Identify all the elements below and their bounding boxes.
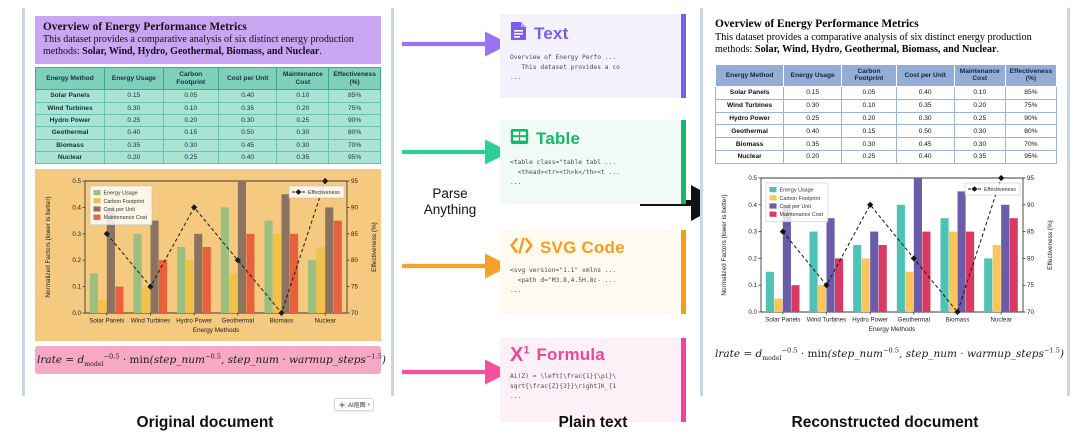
svg-text:Solar Panels: Solar Panels — [89, 318, 124, 325]
svg-text:90: 90 — [1027, 202, 1034, 209]
cell-value: 75% — [329, 102, 381, 114]
cell-value: 90% — [329, 114, 381, 126]
cell-value: 80% — [1005, 125, 1056, 138]
cell-value: 0.10 — [163, 102, 218, 114]
cell-value: 0.40 — [218, 152, 277, 164]
original-chart-panel: 0.00.10.20.30.40.5707580859095Solar Pane… — [35, 169, 381, 341]
card-preview-text: <svg version="1.1" xmlns ... <path d="M3… — [510, 266, 678, 295]
svg-text:Energy Methods: Energy Methods — [869, 326, 916, 333]
original-subtitle-bold: Solar, Wind, Hydro, Geothermal, Biomass,… — [82, 46, 319, 57]
cell-method: Wind Turbines — [36, 102, 105, 114]
cell-value: 0.25 — [784, 112, 842, 125]
cell-value: 0.30 — [842, 138, 897, 151]
cell-value: 0.20 — [784, 150, 842, 163]
svg-text:Cost per Unit: Cost per Unit — [104, 207, 136, 213]
caption-reconstructed-document: Reconstructed document — [760, 414, 1010, 432]
table-row: Biomass 0.35 0.30 0.45 0.30 70% — [716, 138, 1057, 151]
recon-doc-title: Overview of Energy Performance Metrics — [715, 18, 1057, 30]
svg-text:0.2: 0.2 — [72, 258, 81, 265]
table-row: Wind Turbines 0.30 0.10 0.35 0.20 75% — [716, 99, 1057, 112]
svg-text:Energy Usage: Energy Usage — [104, 191, 138, 197]
cell-value: 0.10 — [277, 90, 329, 102]
svg-text:70: 70 — [351, 310, 358, 317]
svg-text:0.0: 0.0 — [748, 309, 757, 316]
cell-method: Geothermal — [716, 125, 784, 138]
cell-value: 0.25 — [954, 112, 1005, 125]
svg-text:0.3: 0.3 — [748, 228, 757, 235]
card-header: SVG Code — [510, 237, 678, 259]
reconstructed-document-panel: Overview of Energy Performance Metrics T… — [700, 8, 1070, 396]
plain-text-card-text[interactable]: Text Overview of Energy Perfo ... This d… — [500, 14, 686, 98]
svg-text:Geothermal: Geothermal — [222, 318, 254, 325]
cell-method: Geothermal — [36, 127, 105, 139]
recon-subtitle-suffix: . — [997, 44, 1000, 55]
svg-text:Carbon Footprint: Carbon Footprint — [780, 196, 821, 202]
cell-value: 0.30 — [163, 139, 218, 151]
svg-text:Cost per Unit: Cost per Unit — [780, 204, 812, 210]
cell-value: 95% — [329, 152, 381, 164]
col-maintenance-cost: Maintenance Cost — [954, 64, 1005, 86]
cell-value: 0.50 — [896, 125, 954, 138]
svg-text:0.5: 0.5 — [72, 178, 81, 185]
svg-text:Carbon Footprint: Carbon Footprint — [104, 199, 145, 205]
plain-text-card-formula[interactable]: X1 Formula Ai(Z) = \left[\frac{1}{\pi}\ … — [500, 338, 686, 422]
cell-value: 0.35 — [896, 99, 954, 112]
code-icon — [510, 237, 533, 259]
svg-text:0.4: 0.4 — [748, 202, 757, 209]
svg-text:Maintenance Cost: Maintenance Cost — [104, 216, 148, 222]
card-title: Formula — [536, 345, 604, 365]
cell-value: 0.15 — [784, 87, 842, 100]
recon-subtitle-bold: Solar, Wind, Hydro, Geothermal, Biomass,… — [755, 44, 997, 55]
svg-text:Solar Panels: Solar Panels — [765, 316, 800, 323]
svg-text:85: 85 — [351, 231, 358, 238]
svg-text:75: 75 — [351, 284, 358, 291]
parse-anything-label: Parse Anything — [404, 186, 496, 217]
cell-value: 0.25 — [842, 150, 897, 163]
table-icon — [510, 127, 529, 151]
cell-value: 0.40 — [784, 125, 842, 138]
svg-text:Normalized Factors (lower is b: Normalized Factors (lower is better) — [45, 197, 52, 298]
cell-method: Nuclear — [716, 150, 784, 163]
svg-text:Hydro Power: Hydro Power — [176, 318, 212, 325]
cell-method: Biomass — [36, 139, 105, 151]
table-row: Hydro Power 0.25 0.20 0.30 0.25 90% — [36, 114, 381, 126]
table-row: Nuclear 0.20 0.25 0.40 0.35 95% — [716, 150, 1057, 163]
chevron-down-icon: ▾ — [368, 402, 371, 408]
col-effectiveness: Effectiveness (%) — [1005, 64, 1056, 86]
original-formula-block: lrate = dmodel−0.5 · min(step_num−0.5, s… — [35, 346, 381, 373]
table-row: Nuclear 0.20 0.25 0.40 0.35 95% — [36, 152, 381, 164]
svg-text:Energy Usage: Energy Usage — [780, 187, 814, 193]
cell-value: 0.35 — [954, 150, 1005, 163]
cell-value: 0.40 — [105, 127, 164, 139]
cell-value: 0.20 — [105, 152, 164, 164]
ai-cutout-widget[interactable]: AI抠图 ▾ — [334, 398, 374, 411]
card-accent-bar — [681, 120, 686, 204]
cell-value: 0.05 — [163, 90, 218, 102]
cell-value: 0.30 — [218, 114, 277, 126]
cell-value: 0.20 — [842, 112, 897, 125]
formula-latex: lrate = dmodel−0.5 · min(step_num−0.5, s… — [715, 348, 1064, 360]
reconstructed-combo-chart: 0.00.10.20.30.40.5707580859095Solar Pane… — [715, 170, 1059, 338]
cell-value: 0.30 — [784, 99, 842, 112]
cell-method: Solar Panels — [36, 90, 105, 102]
table-header-row: Energy Method Energy Usage Carbon Footpr… — [36, 68, 381, 90]
svg-text:Maintenance Cost: Maintenance Cost — [780, 212, 824, 218]
original-document-panel: Overview of Energy Performance Metrics T… — [22, 8, 394, 396]
card-preview-text: <table class="table tabl ... <thead><tr>… — [510, 158, 678, 187]
col-carbon-footprint: Carbon Footprint — [842, 64, 897, 86]
ai-widget-label: AI抠图 — [348, 400, 366, 409]
card-title: Table — [536, 129, 580, 149]
col-energy-method: Energy Method — [36, 68, 105, 90]
svg-text:Normalized Factors (lower is b: Normalized Factors (lower is better) — [721, 194, 728, 295]
cell-value: 70% — [1005, 138, 1056, 151]
cell-value: 0.40 — [896, 150, 954, 163]
svg-text:Wind Turbines: Wind Turbines — [807, 316, 847, 323]
svg-text:Hydro Power: Hydro Power — [852, 316, 888, 323]
reconstructed-chart-panel: 0.00.10.20.30.40.5707580859095Solar Pane… — [715, 170, 1057, 342]
card-header: Table — [510, 127, 678, 151]
table-row: Geothermal 0.40 0.15 0.50 0.30 80% — [36, 127, 381, 139]
col-maintenance-cost: Maintenance Cost — [277, 68, 329, 90]
cell-method: Nuclear — [36, 152, 105, 164]
svg-text:Wind Turbines: Wind Turbines — [131, 318, 171, 325]
cell-method: Biomass — [716, 138, 784, 151]
svg-text:0.4: 0.4 — [72, 205, 81, 212]
original-header-block: Overview of Energy Performance Metrics T… — [35, 16, 381, 64]
svg-text:70: 70 — [1027, 309, 1034, 316]
reconstructed-formula-block: lrate = dmodel−0.5 · min(step_num−0.5, s… — [715, 344, 1057, 362]
col-energy-usage: Energy Usage — [784, 64, 842, 86]
recon-doc-subtitle: This dataset provides a comparative anal… — [715, 32, 1057, 57]
card-header: Text — [510, 21, 678, 46]
svg-text:80: 80 — [351, 258, 358, 265]
page-root: Overview of Energy Performance Metrics T… — [0, 0, 1080, 438]
caption-original-document: Original document — [90, 414, 320, 432]
original-doc-title: Overview of Energy Performance Metrics — [43, 21, 373, 33]
table-header-row: Energy Method Energy Usage Carbon Footpr… — [716, 64, 1057, 86]
cell-value: 85% — [1005, 87, 1056, 100]
cell-value: 0.10 — [954, 87, 1005, 100]
svg-text:80: 80 — [1027, 255, 1034, 262]
cell-value: 0.25 — [163, 152, 218, 164]
cell-value: 0.30 — [277, 139, 329, 151]
svg-text:85: 85 — [1027, 228, 1034, 235]
table-row: Hydro Power 0.25 0.20 0.30 0.25 90% — [716, 112, 1057, 125]
svg-text:0.0: 0.0 — [72, 310, 81, 317]
cell-value: 0.45 — [896, 138, 954, 151]
svg-text:0.3: 0.3 — [72, 231, 81, 238]
cell-value: 0.25 — [105, 114, 164, 126]
card-header: X1 Formula — [510, 345, 678, 365]
cell-value: 0.15 — [163, 127, 218, 139]
formula-icon: X1 — [510, 345, 529, 365]
svg-text:Nuclear: Nuclear — [315, 318, 336, 325]
original-combo-chart: 0.00.10.20.30.40.5707580859095Solar Pane… — [39, 173, 383, 339]
cell-value: 0.50 — [218, 127, 277, 139]
svg-text:Effectiveness (%): Effectiveness (%) — [371, 223, 378, 273]
cell-value: 0.40 — [896, 87, 954, 100]
svg-text:Effectiveness: Effectiveness — [984, 187, 1016, 193]
cell-value: 0.30 — [954, 125, 1005, 138]
table-row: Wind Turbines 0.30 0.10 0.35 0.20 75% — [36, 102, 381, 114]
cell-method: Wind Turbines — [716, 99, 784, 112]
parse-label-line2: Anything — [404, 202, 496, 218]
card-preview-text: Overview of Energy Perfo ... This datase… — [510, 53, 678, 82]
cell-method: Hydro Power — [716, 112, 784, 125]
cell-value: 0.10 — [842, 99, 897, 112]
plain-text-card-table[interactable]: Table <table class="table tabl ... <thea… — [500, 120, 686, 204]
card-title: SVG Code — [540, 238, 625, 258]
cell-value: 0.25 — [277, 114, 329, 126]
formula-latex: lrate = dmodel−0.5 · min(step_num−0.5, s… — [37, 354, 386, 366]
cell-value: 0.30 — [896, 112, 954, 125]
table-row: Geothermal 0.40 0.15 0.50 0.30 80% — [716, 125, 1057, 138]
col-energy-method: Energy Method — [716, 64, 784, 86]
svg-text:Effectiveness: Effectiveness — [308, 191, 340, 197]
cell-value: 0.20 — [954, 99, 1005, 112]
cell-value: 0.45 — [218, 139, 277, 151]
svg-text:Nuclear: Nuclear — [991, 316, 1012, 323]
original-doc-subtitle: This dataset provides a comparative anal… — [43, 34, 373, 58]
caption-plain-text: Plain text — [500, 414, 686, 432]
cell-value: 70% — [329, 139, 381, 151]
document-icon — [510, 21, 527, 46]
col-cost-per-unit: Cost per Unit — [218, 68, 277, 90]
card-accent-bar — [681, 338, 686, 422]
cell-value: 0.20 — [277, 102, 329, 114]
plain-text-card-svg[interactable]: SVG Code <svg version="1.1" xmlns ... <p… — [500, 230, 686, 314]
svg-text:Geothermal: Geothermal — [898, 316, 930, 323]
card-preview-text: Ai(Z) = \left[\frac{1}{\pi}\ sqrt{\frac{… — [510, 372, 678, 401]
svg-text:0.5: 0.5 — [748, 175, 757, 182]
table-row: Solar Panels 0.15 0.05 0.40 0.10 85% — [36, 90, 381, 102]
svg-text:95: 95 — [351, 178, 358, 185]
cell-value: 95% — [1005, 150, 1056, 163]
svg-text:Biomass: Biomass — [946, 316, 970, 323]
svg-text:95: 95 — [1027, 175, 1034, 182]
card-accent-bar — [681, 230, 686, 314]
table-row: Solar Panels 0.15 0.05 0.40 0.10 85% — [716, 87, 1057, 100]
col-carbon-footprint: Carbon Footprint — [163, 68, 218, 90]
cell-value: 75% — [1005, 99, 1056, 112]
svg-text:Effectiveness (%): Effectiveness (%) — [1047, 220, 1054, 270]
svg-text:0.2: 0.2 — [748, 255, 757, 262]
cell-value: 80% — [329, 127, 381, 139]
original-subtitle-suffix: . — [319, 46, 322, 57]
cell-value: 0.15 — [105, 90, 164, 102]
cell-value: 0.35 — [218, 102, 277, 114]
cell-method: Solar Panels — [716, 87, 784, 100]
reconstructed-metrics-table: Energy Method Energy Usage Carbon Footpr… — [715, 64, 1057, 164]
cell-value: 0.15 — [842, 125, 897, 138]
table-row: Biomass 0.35 0.30 0.45 0.30 70% — [36, 139, 381, 151]
svg-text:90: 90 — [351, 205, 358, 212]
svg-text:Biomass: Biomass — [270, 318, 294, 325]
cell-value: 0.40 — [218, 90, 277, 102]
card-accent-bar — [681, 14, 686, 98]
sparkle-icon — [338, 396, 346, 414]
col-cost-per-unit: Cost per Unit — [896, 64, 954, 86]
cell-value: 90% — [1005, 112, 1056, 125]
svg-text:Energy Methods: Energy Methods — [193, 327, 240, 334]
cell-value: 0.05 — [842, 87, 897, 100]
cell-value: 0.35 — [105, 139, 164, 151]
cell-value: 0.30 — [277, 127, 329, 139]
svg-text:0.1: 0.1 — [748, 282, 757, 289]
col-energy-usage: Energy Usage — [105, 68, 164, 90]
cell-value: 0.35 — [784, 138, 842, 151]
original-metrics-table: Energy Method Energy Usage Carbon Footpr… — [35, 67, 381, 164]
col-effectiveness: Effectiveness (%) — [329, 68, 381, 90]
cell-value: 0.20 — [163, 114, 218, 126]
cell-value: 0.30 — [954, 138, 1005, 151]
cell-value: 0.35 — [277, 152, 329, 164]
cell-method: Hydro Power — [36, 114, 105, 126]
svg-text:75: 75 — [1027, 282, 1034, 289]
cell-value: 85% — [329, 90, 381, 102]
parse-label-line1: Parse — [404, 186, 496, 202]
cell-value: 0.30 — [105, 102, 164, 114]
svg-text:0.1: 0.1 — [72, 284, 81, 291]
card-title: Text — [534, 24, 569, 44]
